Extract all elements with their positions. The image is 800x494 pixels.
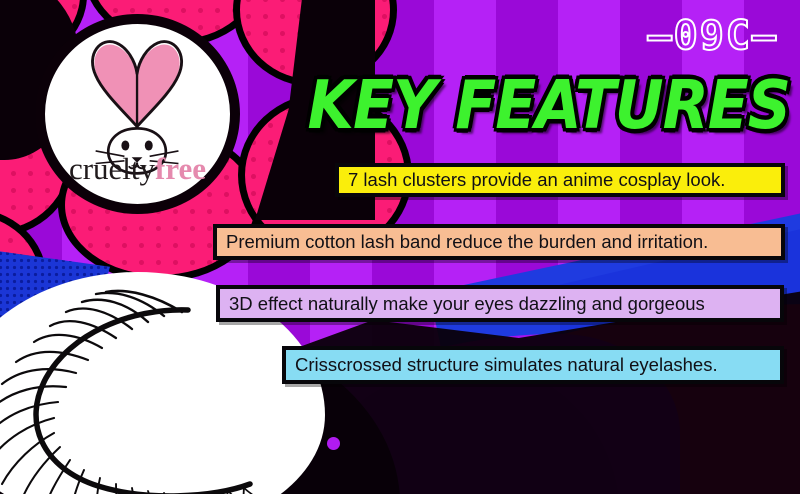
- feature-item-4: Crisscrossed structure simulates natural…: [282, 346, 784, 384]
- feature-text-4: Crisscrossed structure simulates natural…: [295, 354, 718, 376]
- page-title: KEY FEATURES: [307, 72, 790, 139]
- cruelty-free-badge: crueltyfree: [35, 14, 240, 214]
- product-code-label: —09C—: [648, 16, 778, 56]
- purple-dot-accent: [327, 437, 340, 450]
- feature-text-1: 7 lash clusters provide an anime cosplay…: [348, 169, 725, 191]
- badge-word-free: free: [155, 151, 206, 186]
- cruelty-free-wordmark: crueltyfree: [45, 153, 230, 184]
- feature-item-2: Premium cotton lash band reduce the burd…: [213, 224, 785, 260]
- feature-text-3: 3D effect naturally make your eyes dazzl…: [229, 293, 705, 315]
- feature-item-1: 7 lash clusters provide an anime cosplay…: [335, 163, 785, 197]
- badge-word-cruelty: cruelty: [69, 151, 155, 186]
- feature-text-2: Premium cotton lash band reduce the burd…: [226, 231, 708, 253]
- key-features-banner: crueltyfree: [0, 0, 800, 494]
- feature-item-3: 3D effect naturally make your eyes dazzl…: [216, 285, 784, 322]
